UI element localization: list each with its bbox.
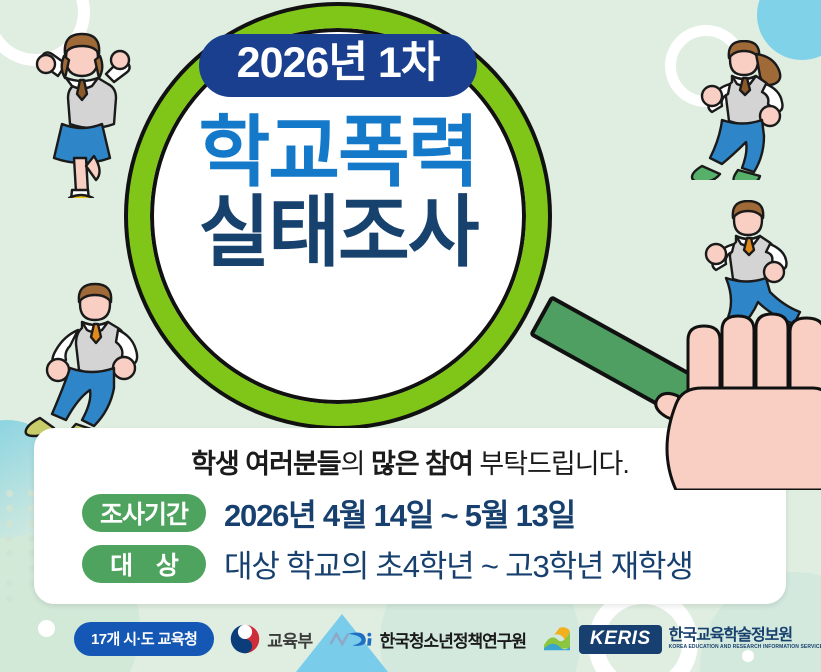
survey-target-label: 대 상 — [82, 545, 206, 583]
illustration-hand-holding-magnifier — [636, 300, 821, 490]
survey-period-row: 조사기간 2026년 4월 14일 ~ 5월 13일 — [34, 490, 786, 535]
logo-ministry-of-education: 교육부 — [230, 624, 312, 654]
logo-keris: KERIS 한국교육학술정보원 KOREA EDUCATION AND RESE… — [542, 625, 821, 654]
magnifier-lens — [128, 6, 548, 426]
school-violence-survey-poster: 2026년 1차 학교폭력 실태조사 학생 여러분들의 많은 참여 부탁드립니다… — [0, 0, 821, 672]
survey-target-row: 대 상 대상 학교의 초4학년 ~ 고3학년 재학생 — [34, 541, 786, 586]
keris-wordmark: KERIS — [579, 625, 662, 654]
survey-period-label: 조사기간 — [82, 494, 206, 532]
lead-bold-1: 학생 여러분들 — [191, 449, 341, 479]
nypi-label: 한국청소년정책연구원 — [380, 627, 526, 652]
keris-english-label: KOREA EDUCATION AND RESEARCH INFORMATION… — [669, 644, 821, 650]
survey-period-value: 2026년 4월 14일 ~ 5월 13일 — [224, 490, 575, 535]
keris-icon — [542, 626, 572, 652]
keris-korean-label: 한국교육학술정보원 — [669, 628, 821, 645]
lead-plain-2: 부탁드립니다. — [473, 449, 629, 479]
illustration-female-student-cheering — [22, 28, 140, 198]
ministry-of-education-label: 교육부 — [267, 627, 312, 652]
taegeuk-icon — [230, 624, 260, 654]
logo-nypi: 한국청소년정책연구원 — [329, 627, 526, 652]
education-offices-pill: 17개 시·도 교육청 — [74, 622, 214, 656]
nypi-icon — [329, 629, 373, 649]
illustration-female-student-running-right — [676, 40, 806, 180]
lead-bold-2: 많은 참여 — [371, 449, 473, 479]
lead-plain-1: 의 — [341, 449, 371, 479]
illustration-male-student-running-left — [18, 282, 158, 442]
footer-logo-strip: 17개 시·도 교육청 교육부 한국청소년정책연구원 — [0, 614, 821, 664]
survey-target-value: 대상 학교의 초4학년 ~ 고3학년 재학생 — [224, 541, 693, 586]
keris-label-group: 한국교육학술정보원 KOREA EDUCATION AND RESEARCH I… — [669, 628, 821, 651]
